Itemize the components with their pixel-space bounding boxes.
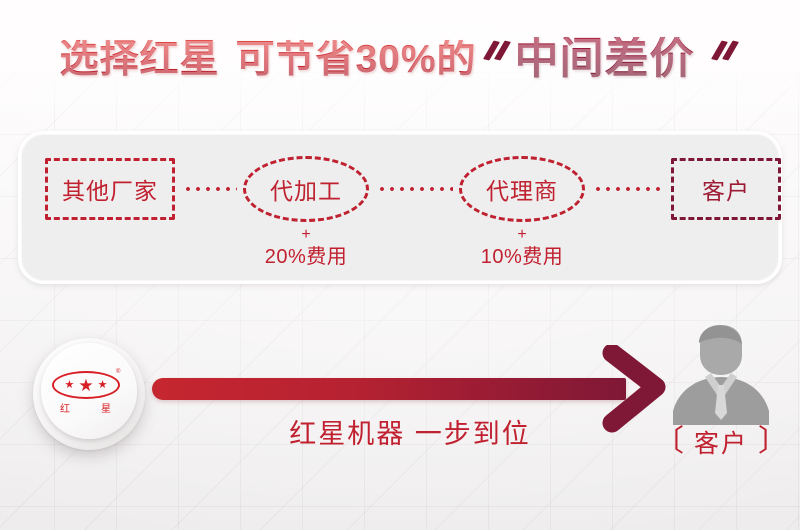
flow-node-client: 客户 — [671, 158, 781, 220]
star-icon-center: ★ — [78, 377, 93, 394]
flow-node-label: 代加工 — [270, 172, 342, 206]
fee-plus-sign: + — [226, 226, 386, 244]
fee-amount: 10%费用 — [442, 246, 602, 269]
red-gradient-arrow-shaft — [152, 378, 626, 400]
flow-connector-3 — [593, 187, 665, 191]
logo-wordmark: 红 星 — [52, 400, 120, 415]
flow-node-label: 代理商 — [486, 172, 558, 206]
headline-emphasis: 中间差价 — [515, 37, 695, 81]
customer-label: 客户 — [694, 424, 748, 460]
logo-mark: ★ ★ ★ ® 红 星 — [52, 369, 126, 419]
registered-mark: ® — [116, 369, 120, 375]
flow-node-agent: 代理商 — [459, 156, 585, 222]
customer-label-tag: 〔 客户 〕 — [648, 424, 794, 460]
bracket-right-icon: 〕 — [758, 427, 788, 457]
flow-node-other-factory: 其他厂家 — [45, 158, 175, 220]
flow-connector-1 — [183, 187, 237, 191]
flow-diagram: 其他厂家 代加工 + 20%费用 代理商 + 10%费用 客户 — [21, 134, 779, 281]
headline: 选择红星 可节省30%的 中间差价 — [0, 26, 800, 92]
logo-char-hong: 红 — [60, 400, 71, 415]
logo-stars: ★ ★ ★ — [52, 371, 120, 399]
hongxing-logo: ★ ★ ★ ® 红 星 — [33, 338, 145, 450]
flow-node-oem: 代加工 — [243, 156, 369, 222]
quote-close-icon — [711, 37, 741, 81]
flow-connector-2 — [377, 187, 453, 191]
flow-fee-oem: + 20%费用 — [226, 226, 386, 269]
red-gradient-arrow-head — [600, 345, 684, 433]
fee-plus-sign: + — [442, 226, 602, 244]
logo-char-xing: 星 — [101, 400, 112, 415]
star-icon-left: ★ — [65, 380, 75, 391]
flow-node-label: 客户 — [702, 172, 750, 206]
arrow-caption: 红星机器 一步到位 — [210, 412, 610, 451]
flow-panel: 其他厂家 代加工 + 20%费用 代理商 + 10%费用 客户 — [18, 131, 782, 284]
flow-node-label: 其他厂家 — [62, 172, 158, 206]
fee-amount: 20%费用 — [226, 246, 386, 269]
bracket-left-icon: 〔 — [654, 427, 684, 457]
headline-part1: 选择红星 — [59, 40, 219, 79]
quote-open-icon — [483, 37, 513, 81]
headline-part2: 可节省30%的 — [235, 40, 476, 79]
flow-fee-agent: + 10%费用 — [442, 226, 602, 269]
star-icon-right: ★ — [98, 380, 108, 391]
